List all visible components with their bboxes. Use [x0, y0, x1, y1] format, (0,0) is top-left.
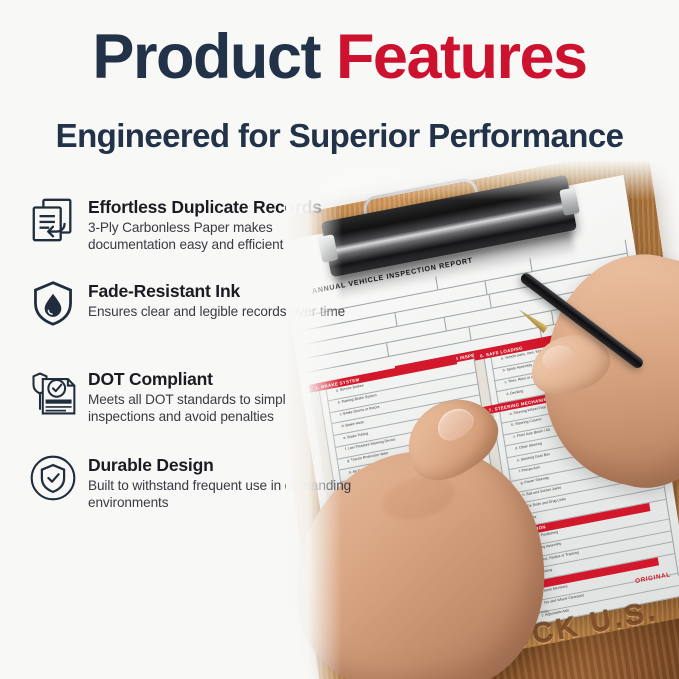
feature-description: Built to withstand frequent use in deman…: [88, 477, 352, 512]
infographic-canvas: Product Features Engineered for Superior…: [0, 0, 679, 679]
duplicate-documents-icon: [22, 193, 84, 257]
feature-title: Effortless Duplicate Records: [88, 197, 352, 218]
shield-check-circle-icon: [22, 451, 84, 515]
feature-text: Fade-Resistant Ink Ensures clear and leg…: [84, 277, 345, 320]
list-item: Effortless Duplicate Records 3-Ply Carbo…: [22, 193, 352, 257]
list-item: Fade-Resistant Ink Ensures clear and leg…: [22, 277, 352, 341]
feature-description: 3-Ply Carbonless Paper makes documentati…: [88, 219, 352, 254]
feature-title: Fade-Resistant Ink: [88, 281, 345, 302]
shield-ink-drop-icon: [22, 277, 84, 341]
list-item: Durable Design Built to withstand freque…: [22, 451, 352, 515]
page-subtitle: Engineered for Superior Performance: [0, 117, 679, 155]
page-title: Product Features: [0, 26, 679, 89]
title-features: Features: [336, 22, 587, 92]
document-check-shield-icon: [22, 365, 84, 429]
feature-text: Durable Design Built to withstand freque…: [84, 451, 352, 512]
feature-description: Ensures clear and legible records over t…: [88, 303, 345, 320]
list-item: DOT Compliant Meets all DOT standards to…: [22, 365, 352, 429]
feature-title: Durable Design: [88, 455, 352, 476]
feature-text: DOT Compliant Meets all DOT standards to…: [84, 365, 352, 426]
feature-text: Effortless Duplicate Records 3-Ply Carbo…: [84, 193, 352, 254]
feature-list: Effortless Duplicate Records 3-Ply Carbo…: [22, 193, 352, 532]
feature-description: Meets all DOT standards to simplify insp…: [88, 391, 352, 426]
feature-title: DOT Compliant: [88, 369, 352, 390]
title-line: Product Features: [0, 26, 679, 89]
title-product: Product: [92, 22, 320, 92]
